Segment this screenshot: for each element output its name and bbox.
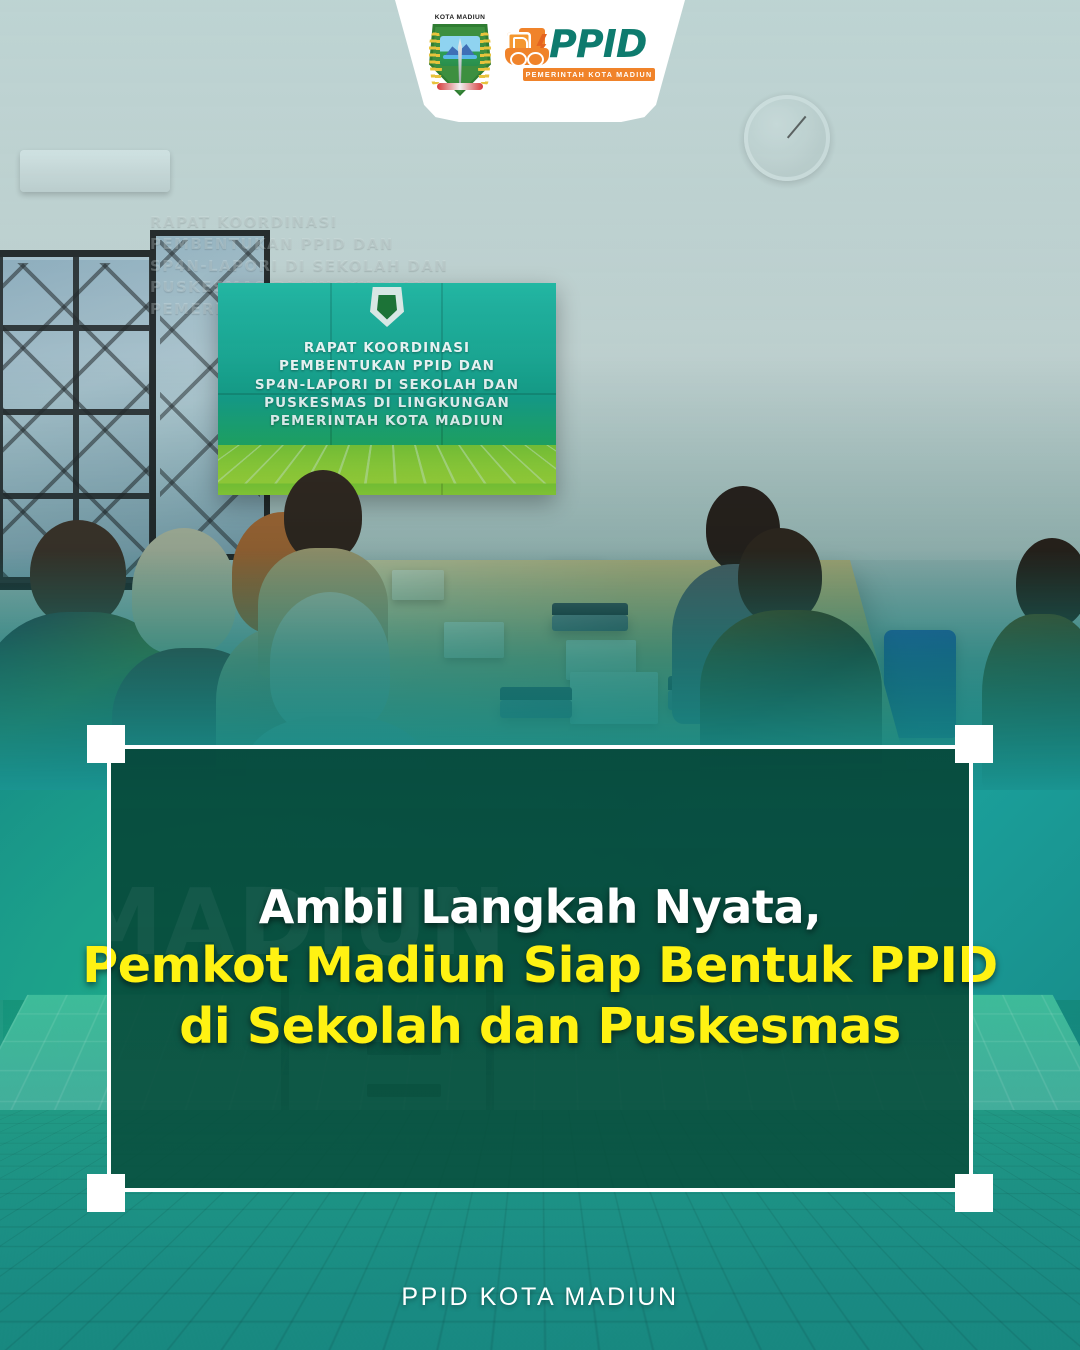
ppid-logo-icon: PPID PEMERINTAH KOTA MADIUN [505, 24, 657, 88]
headline-line-3: di Sekolah dan Puskesmas [179, 998, 901, 1057]
ppid-subtitle: PEMERINTAH KOTA MADIUN [523, 68, 655, 81]
headline-text: Ambil Langkah Nyata, Pemkot Madiun Siap … [111, 749, 969, 1188]
crest-caption: KOTA MADIUN [435, 14, 486, 21]
kota-madiun-coat-of-arms-icon: KOTA MADIUN [423, 12, 497, 100]
header-logo-badge: KOTA MADIUN PPID PEMERINTAH KOTA MADIUN [395, 0, 685, 122]
headline-line-2: Pemkot Madiun Siap Bentuk PPID [82, 937, 998, 996]
footer-caption: PPID KOTA MADIUN [0, 1283, 1080, 1312]
poster-canvas: RAPAT KOORDINASI PEMBENTUKAN PPID DAN SP… [0, 0, 1080, 1350]
ppid-wordmark: PPID [549, 24, 646, 64]
ppid-glasses-icon [505, 48, 549, 65]
crest-ribbon [437, 83, 483, 90]
headline-line-1: Ambil Langkah Nyata, [259, 880, 821, 935]
ppid-mark [505, 28, 551, 64]
